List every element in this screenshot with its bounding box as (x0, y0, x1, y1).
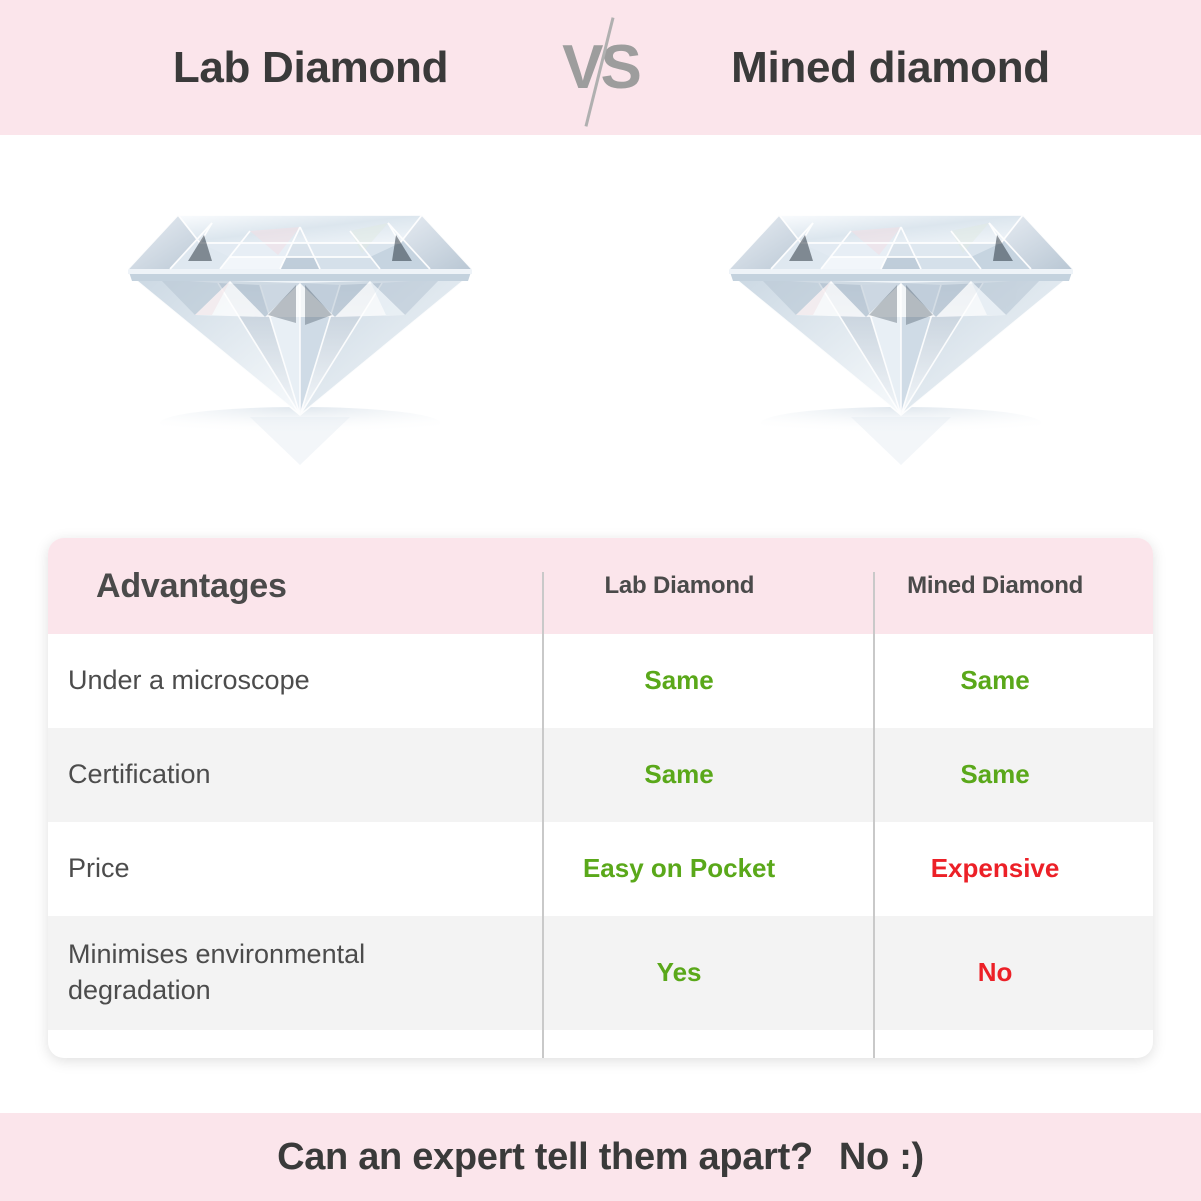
footer-band: Can an expert tell them apart? No :) (0, 1113, 1201, 1201)
diamond-icon (100, 165, 500, 465)
row-mined-value: Same (837, 759, 1153, 790)
comparison-table: Advantages Lab Diamond Mined Diamond Und… (48, 538, 1153, 1058)
footer-question: Can an expert tell them apart? (277, 1136, 813, 1179)
row-lab-value: Same (521, 759, 837, 790)
row-lab-value: Easy on Pocket (521, 853, 837, 884)
table-header-row: Advantages Lab Diamond Mined Diamond (48, 538, 1153, 634)
table-row: Certification Same Same (48, 728, 1153, 822)
row-mined-value: Same (837, 665, 1153, 696)
diamond-images-area (0, 135, 1201, 535)
left-diamond-cell (20, 135, 580, 475)
table-row: Minimises environmental degradation Yes … (48, 916, 1153, 1030)
table-row: Price Easy on Pocket Expensive (48, 822, 1153, 916)
row-feature: Certification (48, 757, 521, 793)
row-feature: Minimises environmental degradation (48, 937, 521, 1008)
row-feature: Price (48, 851, 521, 887)
diamond-icon (701, 165, 1101, 465)
row-mined-value: Expensive (837, 853, 1153, 884)
infographic-page: Lab Diamond VS Mined diamond (0, 0, 1201, 1201)
column-header-mined-diamond: Mined Diamond (837, 572, 1153, 600)
column-header-advantages: Advantages (48, 567, 521, 606)
footer-answer: No :) (839, 1136, 924, 1179)
row-feature: Under a microscope (48, 663, 521, 699)
header-band: Lab Diamond VS Mined diamond (0, 0, 1201, 135)
right-diamond-cell (621, 135, 1181, 475)
column-header-lab-diamond: Lab Diamond (521, 572, 837, 600)
header-right-title: Mined diamond (656, 46, 1126, 90)
row-lab-value: Yes (521, 957, 837, 988)
versus-badge: VS (546, 8, 656, 128)
row-lab-value: Same (521, 665, 837, 696)
row-mined-value: No (837, 957, 1153, 988)
table-row: Under a microscope Same Same (48, 634, 1153, 728)
header-left-title: Lab Diamond (76, 46, 546, 90)
